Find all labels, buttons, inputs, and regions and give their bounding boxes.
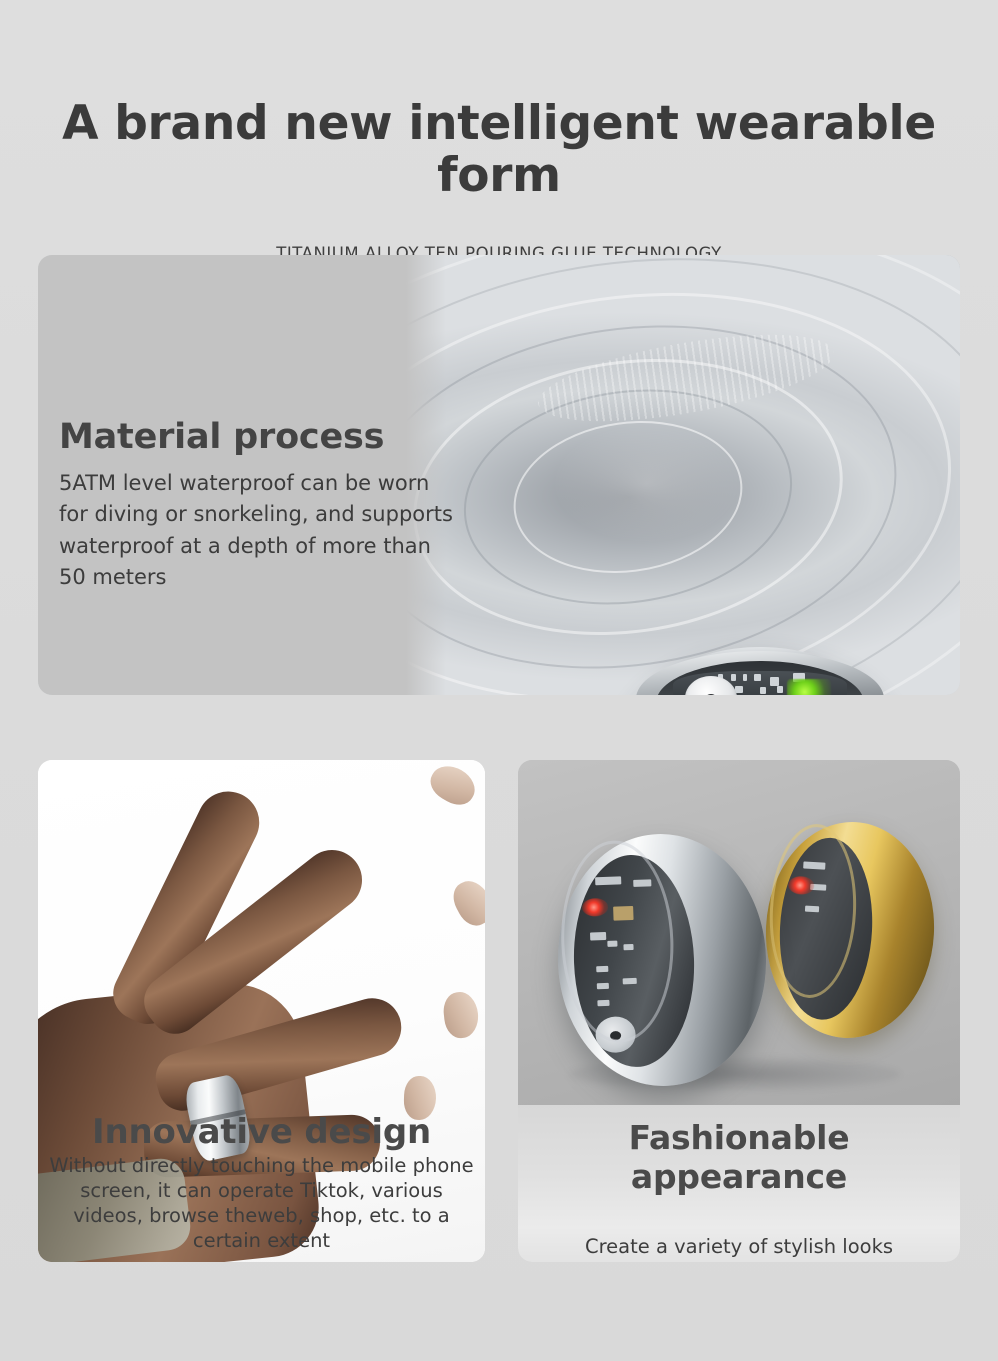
gold-smart-ring: [760, 818, 939, 1042]
card-body-innovative-design: Without directly touching the mobile pho…: [48, 1154, 475, 1254]
fashionable-appearance-caption: Fashionable appearance Create a variety …: [518, 1118, 960, 1258]
page-header: A brand new intelligent wearable form TI…: [0, 0, 998, 263]
innovative-design-caption: Innovative design Without directly touch…: [38, 1112, 485, 1254]
fingernail: [425, 760, 482, 811]
card-title-fashionable-appearance: Fashionable appearance: [518, 1118, 960, 1196]
card-material-process: Material process 5ATM level waterproof c…: [38, 255, 960, 695]
card-title-innovative-design: Innovative design: [48, 1112, 475, 1152]
two-rings-photo: [518, 760, 960, 1105]
fingernail: [447, 875, 485, 932]
smart-ring-in-water: [630, 647, 890, 695]
pcb-chip: [743, 674, 747, 681]
fingernail: [442, 990, 481, 1039]
product-feature-page: A brand new intelligent wearable form TI…: [0, 0, 998, 1361]
material-process-caption: Material process 5ATM level waterproof c…: [59, 417, 459, 593]
pcb-chip: [731, 674, 736, 681]
page-title: A brand new intelligent wearable form: [0, 98, 998, 201]
card-fashionable-appearance: Fashionable appearance Create a variety …: [518, 760, 960, 1262]
pcb-chip: [760, 687, 766, 694]
pcb-chip: [777, 686, 783, 693]
card-body-material-process: 5ATM level waterproof can be worn for di…: [59, 468, 459, 593]
pcb-chip: [754, 674, 761, 681]
green-led-sensor: [787, 679, 831, 695]
silver-smart-ring: [554, 830, 771, 1089]
card-innovative-design: Innovative design Without directly touch…: [38, 760, 485, 1262]
card-body-fashionable-appearance: Create a variety of stylish looks: [518, 1235, 960, 1258]
card-title-material-process: Material process: [59, 417, 459, 457]
pcb-chip: [770, 677, 779, 686]
